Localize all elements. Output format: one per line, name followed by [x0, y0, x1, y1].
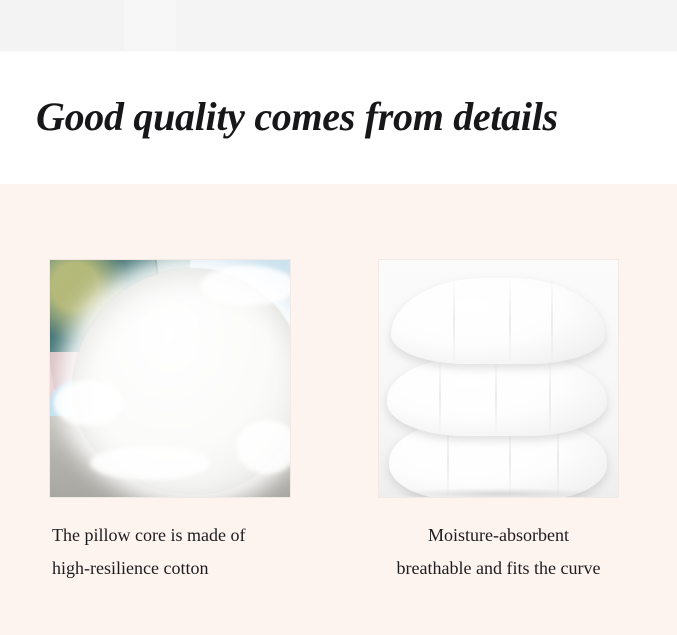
- fiber-photo-wisp: [236, 420, 290, 474]
- caption-line: The pillow core is made of: [52, 519, 290, 552]
- loose-fiber-fill-photo: [50, 260, 290, 497]
- product-detail-page: Good quality comes from details: [0, 0, 677, 635]
- heading-band: Good quality comes from details: [0, 52, 677, 184]
- pillow-crease: [439, 356, 441, 436]
- pillow-insert-top: [391, 278, 605, 364]
- caption-line: breathable and fits the curve: [379, 552, 618, 585]
- pillow-crease: [509, 278, 511, 364]
- pillow-crease: [495, 356, 497, 436]
- feature-caption-moisture-absorbent: Moisture-absorbent breathable and fits t…: [379, 497, 618, 585]
- pillow-photo-canvas: [379, 260, 618, 497]
- feature-card-list: The pillow core is made of high-resilien…: [0, 184, 677, 635]
- fiber-photo-wisp: [54, 380, 124, 426]
- fiber-photo-canvas: [50, 260, 290, 497]
- feature-caption-pillow-core: The pillow core is made of high-resilien…: [50, 497, 290, 585]
- top-chrome-bar: [0, 0, 677, 52]
- fiber-photo-wisp: [200, 266, 290, 306]
- top-chrome-segment-active[interactable]: [124, 0, 176, 50]
- top-chrome-segment-left: [0, 0, 124, 48]
- caption-line: Moisture-absorbent: [379, 519, 618, 552]
- pillow-crease: [551, 278, 553, 364]
- feature-card-moisture-absorbent: Moisture-absorbent breathable and fits t…: [379, 260, 618, 585]
- pillow-crease: [549, 356, 551, 436]
- stacked-pillow-inserts-photo: [379, 260, 618, 497]
- pillow-stack-shadow: [395, 488, 603, 497]
- page-title: Good quality comes from details: [36, 94, 558, 140]
- pillow-insert-middle: [387, 356, 607, 436]
- fiber-photo-wisp: [90, 446, 210, 480]
- pillow-crease: [453, 278, 455, 364]
- caption-line: high-resilience cotton: [52, 552, 290, 585]
- content-band: The pillow core is made of high-resilien…: [0, 184, 677, 635]
- feature-card-pillow-core: The pillow core is made of high-resilien…: [50, 260, 290, 585]
